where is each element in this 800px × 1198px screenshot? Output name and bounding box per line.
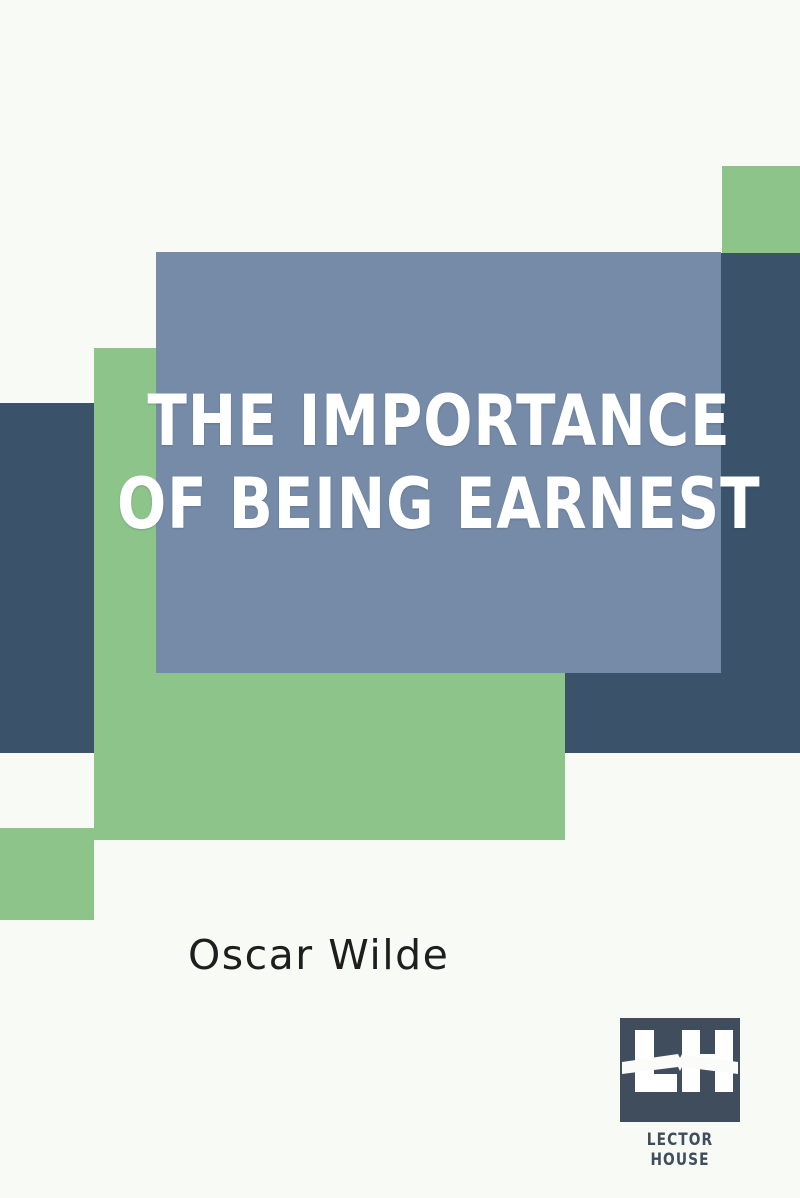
book-cover: THE IMPORTANCE OF BEING EARNEST Oscar Wi…	[0, 0, 800, 1198]
book-title-line-1: THE IMPORTANCE	[147, 380, 730, 463]
publisher-logo: LECTOR HOUSE	[612, 1018, 748, 1164]
title-panel: THE IMPORTANCE OF BEING EARNEST	[156, 252, 721, 673]
decorative-dark-rectangle-left	[0, 403, 94, 753]
decorative-green-square-bottom-left	[0, 828, 94, 920]
decorative-green-square-top-right	[722, 166, 800, 254]
author-name: Oscar Wilde	[188, 931, 449, 979]
lector-house-monogram-icon	[620, 1018, 740, 1122]
book-title-line-2: OF BEING EARNEST	[117, 463, 761, 546]
publisher-wordmark: LECTOR HOUSE	[619, 1130, 741, 1170]
